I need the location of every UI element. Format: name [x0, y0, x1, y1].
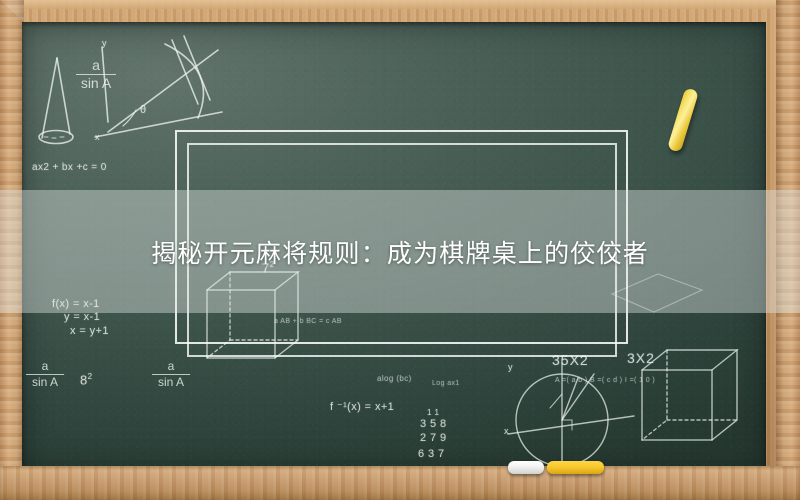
circle-radius-ray-2 — [562, 378, 578, 420]
inverse-function-text: f ⁻¹(x) = x+1 — [330, 400, 394, 413]
cube2-top-face — [642, 350, 737, 370]
frame-bevel-corner — [0, 0, 24, 22]
digits-row-1: 1 1 — [427, 408, 439, 417]
digits-row-3: 2 7 9 — [420, 432, 446, 444]
cube2-right-face — [712, 350, 737, 440]
page-title: 揭秘开元麻将规则：成为棋牌桌上的佼佼者 — [0, 190, 800, 313]
digits-row-2: 3 5 8 — [420, 418, 446, 430]
circle-angle-mark — [550, 394, 562, 408]
log-ax-label: Log ax1 — [432, 380, 460, 387]
circle-horizontal-axis — [508, 416, 634, 434]
yellow-chalk-piece — [547, 461, 604, 474]
matrix-expression: A =( a b ) B =( c d ) I =( 1 0 ) — [555, 377, 655, 384]
axis-label-y-right: y — [508, 362, 513, 372]
label-3x2: 3X2 — [627, 350, 655, 366]
blackboard-banner: a sin A y x θ ax2 + bx +c = 0 f( — [0, 0, 800, 500]
white-chalk-piece — [508, 461, 544, 474]
digits-row-4: 6 3 7 — [418, 448, 444, 460]
frame-top-highlight — [0, 0, 800, 9]
chalk-tray — [0, 466, 800, 500]
axis-label-x-right: x — [504, 426, 509, 436]
